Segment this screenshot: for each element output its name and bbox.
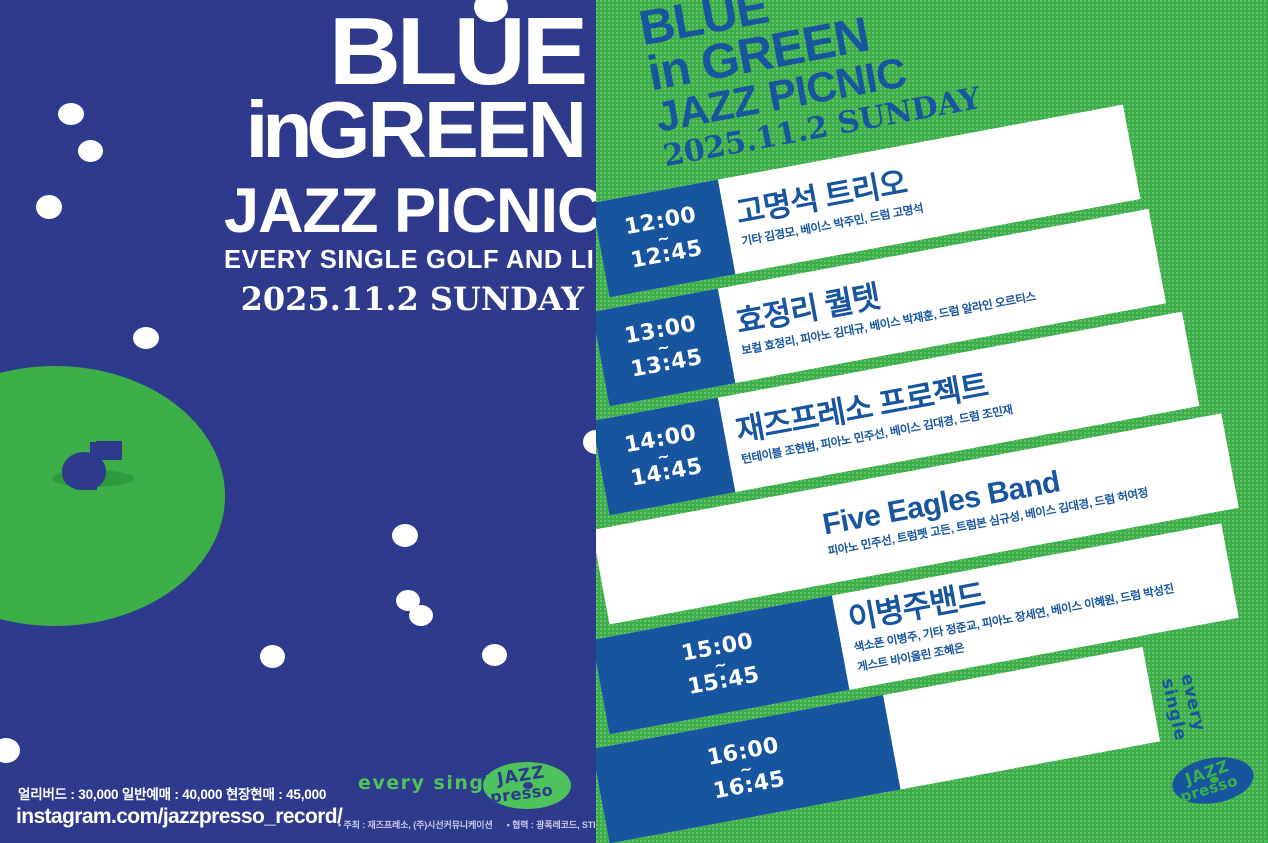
title-jazz-picnic: JAZZ PICNIC: [224, 180, 584, 243]
title-in-green: inGREEN: [213, 93, 584, 167]
decor-dot: [36, 195, 62, 219]
title-green: GREEN: [306, 85, 584, 174]
credit-partner: • 협력 : 광폭레코드, STIC: [507, 820, 596, 830]
decor-dot: [78, 140, 103, 162]
golf-flag-icon: [96, 441, 122, 460]
tagline: EVERY SINGLE GOLF AND LIFE: [224, 246, 584, 275]
schedule-end-time: 14:45: [629, 456, 704, 491]
title-blue: BLUE: [210, 12, 584, 93]
credits: • 주최 : 재즈프레소, (주)시선커뮤니케이션• 협력 : 광폭레코드, S…: [338, 818, 596, 831]
decor-dot: [133, 327, 159, 349]
decor-dot: [482, 644, 507, 666]
schedule-time: 14:00 ~ 14:45: [596, 398, 735, 516]
decor-dot: [583, 430, 596, 454]
ticket-prices: 얼리버드 : 30,000 일반예매 : 40,000 현장현매 : 45,00…: [18, 783, 326, 803]
schedule-time: 12:00 ~ 12:45: [596, 180, 735, 298]
decor-dot: [409, 605, 433, 626]
schedule-end-time: 12:45: [629, 238, 704, 273]
decor-dot: [260, 645, 285, 668]
putting-green-shape: [0, 366, 225, 626]
title-in: in: [246, 85, 307, 174]
decor-dot: [58, 103, 84, 125]
schedule-end-time: 16:45: [712, 769, 787, 804]
schedule-time: 13:00 ~ 13:45: [596, 289, 735, 407]
schedule-end-time: 15:45: [686, 664, 761, 699]
schedule-end-time: 13:45: [629, 347, 704, 382]
credit-organizer: • 주최 : 재즈프레소, (주)시선커뮤니케이션: [338, 820, 493, 830]
decor-dot: [392, 524, 418, 547]
event-date: 2025.11.2 SUNDAY: [224, 280, 584, 318]
jazzpresso-logo: JAZZ presso: [483, 762, 571, 809]
instagram-link[interactable]: instagram.com/jazzpresso_record/: [16, 805, 342, 829]
poster-root: BLUE inGREEN JAZZ PICNIC EVERY SINGLE GO…: [0, 0, 1268, 843]
main-title-block: BLUE inGREEN JAZZ PICNIC EVERY SINGLE GO…: [224, 12, 584, 318]
left-panel: BLUE inGREEN JAZZ PICNIC EVERY SINGLE GO…: [0, 0, 596, 843]
decor-dot: [0, 738, 20, 763]
